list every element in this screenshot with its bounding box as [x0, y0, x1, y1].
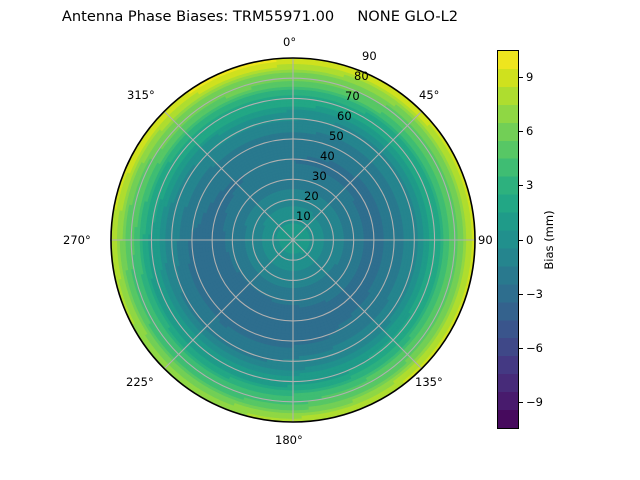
colorbar-tick-label-0: 9 — [526, 70, 533, 84]
colorbar-axis-label: Bias (mm) — [542, 210, 556, 269]
colorbar-tick-label-3: 0 — [526, 233, 533, 247]
polar-grid — [111, 58, 475, 422]
colorbar-tick-mark-2 — [519, 185, 523, 186]
colorbar-tick-mark-5 — [519, 348, 523, 349]
angular-tick-45: 45° — [419, 88, 439, 102]
colorbar-tick-mark-6 — [519, 402, 523, 403]
colorbar-tick-mark-4 — [519, 294, 523, 295]
radial-tick-90: 90 — [362, 49, 377, 63]
radial-tick-60: 60 — [337, 109, 352, 123]
radial-tick-50: 50 — [329, 129, 344, 143]
angular-tick-315: 315° — [127, 88, 155, 102]
polar-plot-surface — [110, 57, 476, 423]
angular-tick-180: 180° — [275, 433, 303, 447]
page-title: Antenna Phase Biases: TRM55971.00 NONE G… — [0, 8, 520, 25]
radial-tick-70: 70 — [345, 89, 360, 103]
colorbar-tick-label-4: −3 — [526, 287, 543, 301]
radial-tick-80: 80 — [354, 69, 369, 83]
colorbar-tick-mark-0 — [519, 77, 523, 78]
colorbar-tick-mark-3 — [519, 240, 523, 241]
radial-tick-30: 30 — [312, 169, 327, 183]
colorbar-gradient — [497, 50, 519, 429]
colorbar-tick-label-1: 6 — [526, 124, 533, 138]
colorbar-tick-mark-1 — [519, 131, 523, 132]
angular-tick-135: 135° — [415, 375, 443, 389]
colorbar-tick-label-6: −9 — [526, 395, 543, 409]
radial-tick-40: 40 — [320, 149, 335, 163]
colorbar-tick-label-2: 3 — [526, 178, 533, 192]
angular-tick-270: 270° — [63, 233, 91, 247]
colorbar: 9630−3−6−9 — [497, 50, 519, 429]
angular-tick-90: 90 — [478, 233, 493, 247]
angular-tick-225: 225° — [126, 375, 154, 389]
radial-tick-20: 20 — [304, 189, 319, 203]
figure-canvas: Antenna Phase Biases: TRM55971.00 NONE G… — [0, 0, 640, 480]
polar-axes: 0° 45° 90 135° 180° 225° 270° 315° 10 20… — [110, 57, 476, 423]
radial-tick-10: 10 — [296, 209, 311, 223]
angular-tick-0: 0° — [283, 35, 296, 49]
colorbar-tick-label-5: −6 — [526, 341, 543, 355]
